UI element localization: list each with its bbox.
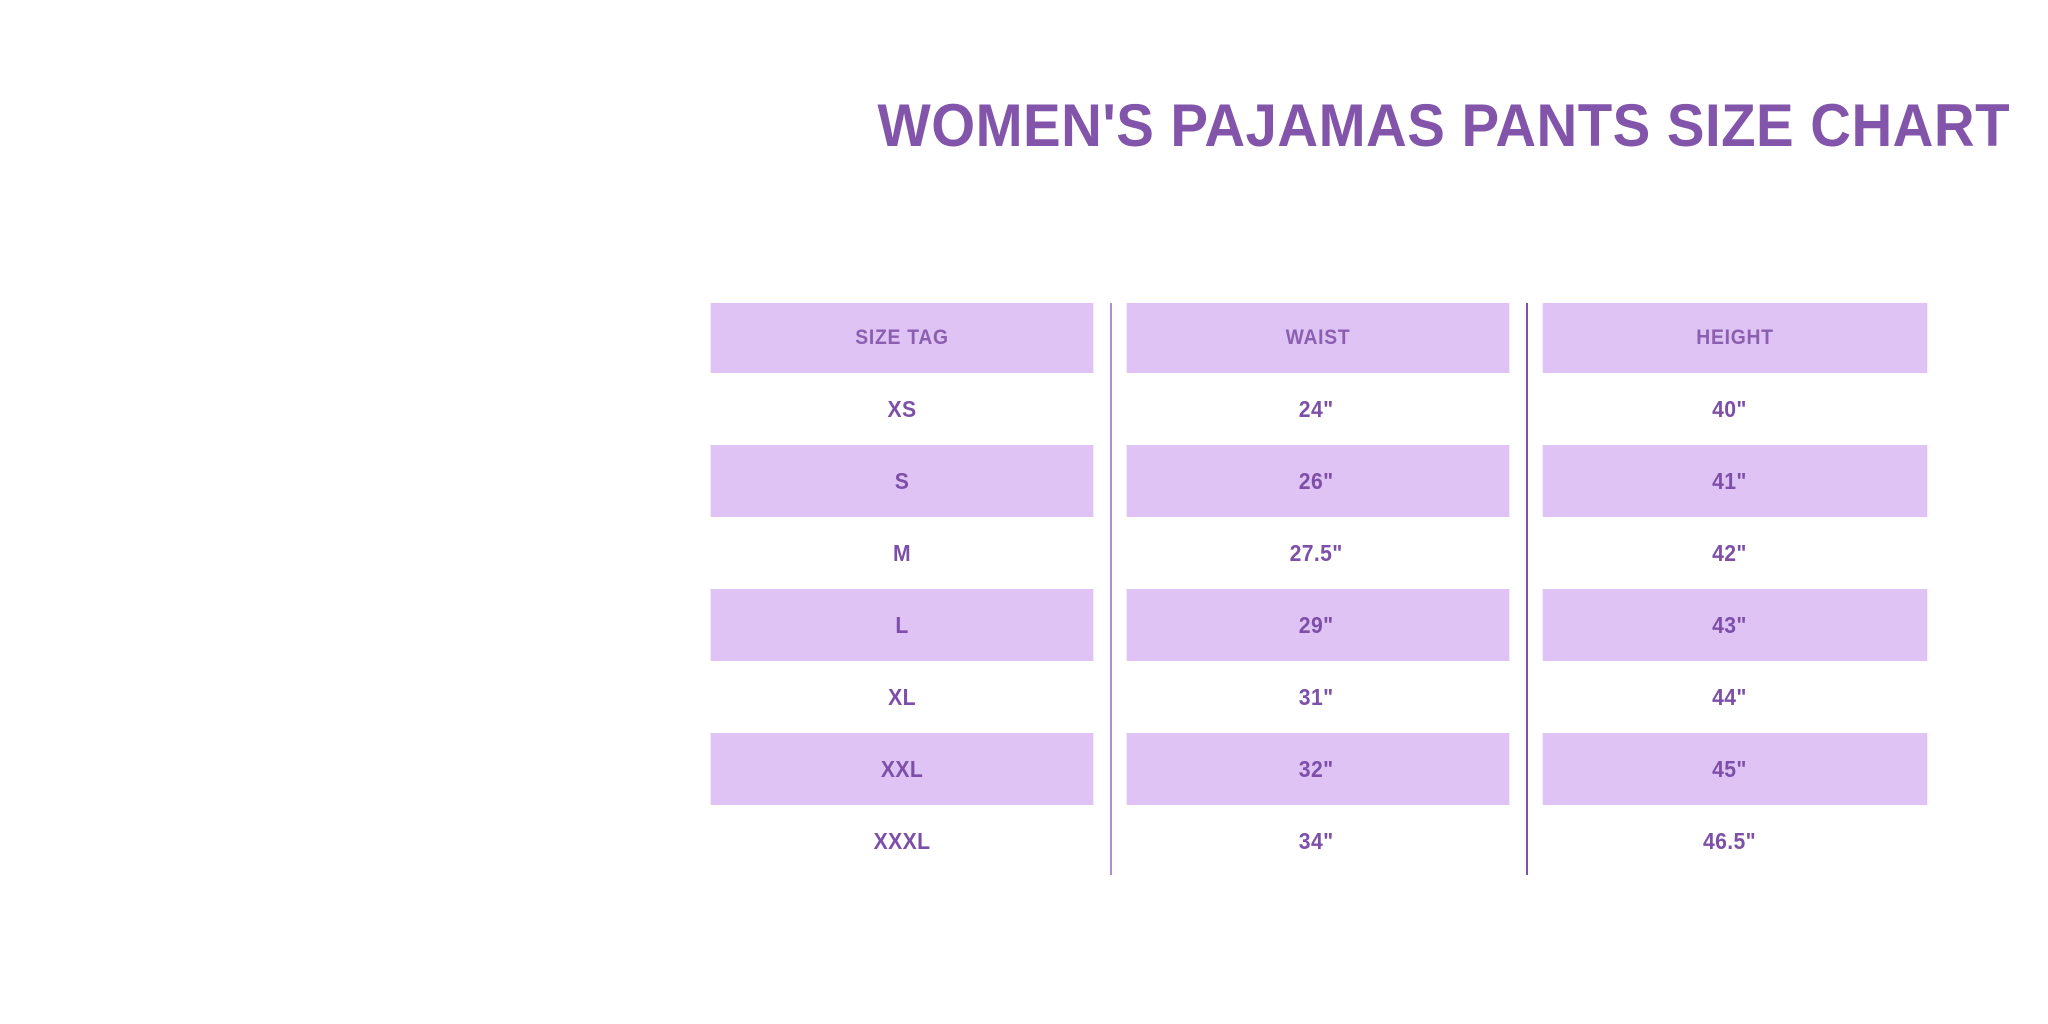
table-row: XL 31" 44" <box>694 661 1944 733</box>
cell-height-value: 43" <box>1537 612 1922 639</box>
cell-size-tag: M <box>711 517 1094 589</box>
cell-size-tag-value: S <box>711 468 1094 495</box>
header-row: SIZE TAG WAIST HEIGHT <box>694 303 1944 373</box>
cell-height-value: 46.5" <box>1537 828 1922 855</box>
cell-height-value: 40" <box>1537 396 1922 423</box>
cell-waist-value: 27.5" <box>1125 540 1508 567</box>
page-title: WOMEN'S PAJAMAS PANTS SIZE CHART <box>773 96 2010 156</box>
column-header-waist-label: WAIST <box>1286 326 1351 349</box>
table-row: L 29" 43" <box>694 589 1944 661</box>
cell-waist-value: 34" <box>1125 828 1508 855</box>
cell-height: 46.5" <box>1543 805 1928 877</box>
cell-waist-value: 31" <box>1125 684 1508 711</box>
cell-size-tag-value: M <box>711 540 1094 567</box>
cell-waist: 27.5" <box>1127 517 1510 589</box>
cell-height: 45" <box>1543 733 1928 805</box>
cell-height: 44" <box>1543 661 1928 733</box>
cell-waist: 32" <box>1127 733 1510 805</box>
cell-height-value: 45" <box>1537 756 1922 783</box>
cell-size-tag-value: XXL <box>711 756 1094 783</box>
cell-waist: 31" <box>1127 661 1510 733</box>
cell-size-tag: S <box>711 445 1094 517</box>
column-header-height: HEIGHT <box>1543 303 1928 373</box>
cell-size-tag-value: XS <box>711 396 1094 423</box>
cell-waist: 24" <box>1127 373 1510 445</box>
cell-waist-value: 26" <box>1125 468 1508 495</box>
cell-height-value: 44" <box>1537 684 1922 711</box>
cell-size-tag: XL <box>711 661 1094 733</box>
cell-size-tag: L <box>711 589 1094 661</box>
cell-size-tag-value: L <box>711 612 1094 639</box>
cell-height-value: 41" <box>1537 468 1922 495</box>
size-chart-table: SIZE TAG WAIST HEIGHT XS 24" 40" S 26" 4… <box>694 303 1944 877</box>
column-divider-second <box>1526 303 1528 875</box>
cell-waist: 34" <box>1127 805 1510 877</box>
table-row: XS 24" 40" <box>694 373 1944 445</box>
table-row: M 27.5" 42" <box>694 517 1944 589</box>
cell-size-tag-value: XL <box>711 684 1094 711</box>
cell-size-tag: XXXL <box>711 805 1094 877</box>
cell-waist-value: 24" <box>1125 396 1508 423</box>
table-body: XS 24" 40" S 26" 41" M 27.5" 42" L 29" 4… <box>694 373 1944 877</box>
column-header-height-label: HEIGHT <box>1696 326 1773 349</box>
cell-waist-value: 29" <box>1125 612 1508 639</box>
cell-height: 41" <box>1543 445 1928 517</box>
table-row: S 26" 41" <box>694 445 1944 517</box>
cell-height: 40" <box>1543 373 1928 445</box>
cell-height: 42" <box>1543 517 1928 589</box>
column-header-size-tag: SIZE TAG <box>711 303 1094 373</box>
table-row: XXL 32" 45" <box>694 733 1944 805</box>
cell-height-value: 42" <box>1537 540 1922 567</box>
table-header: SIZE TAG WAIST HEIGHT <box>694 303 1944 373</box>
table-row: XXXL 34" 46.5" <box>694 805 1944 877</box>
column-divider-first <box>1110 303 1112 875</box>
cell-waist: 26" <box>1127 445 1510 517</box>
column-header-waist: WAIST <box>1127 303 1510 373</box>
cell-waist: 29" <box>1127 589 1510 661</box>
cell-height: 43" <box>1543 589 1928 661</box>
cell-size-tag: XXL <box>711 733 1094 805</box>
column-header-size-tag-label: SIZE TAG <box>855 326 949 349</box>
cell-waist-value: 32" <box>1125 756 1508 783</box>
cell-size-tag: XS <box>711 373 1094 445</box>
cell-size-tag-value: XXXL <box>711 828 1094 855</box>
size-chart-page: WOMEN'S PAJAMAS PANTS SIZE CHART SIZE TA… <box>0 0 2048 1024</box>
